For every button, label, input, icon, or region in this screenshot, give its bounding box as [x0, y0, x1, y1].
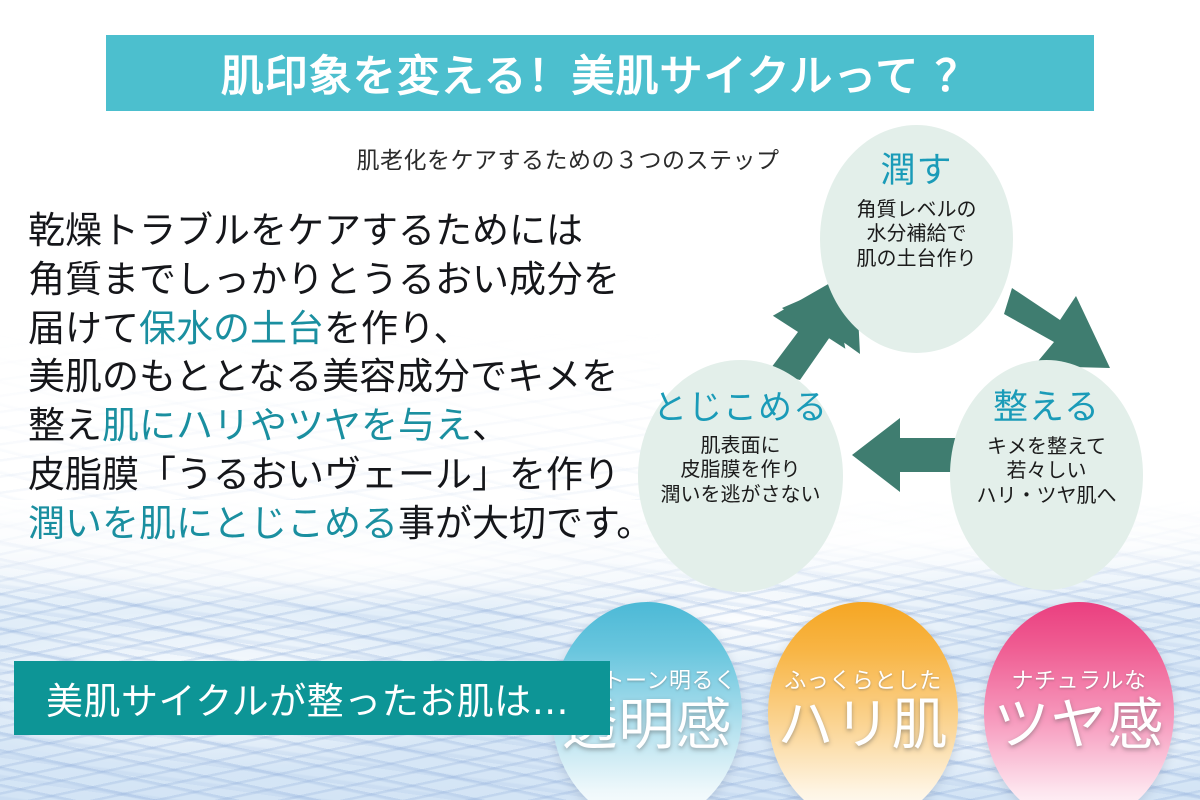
body-text: 、	[472, 406, 509, 447]
body-line: 角質までしっかりとうるおい成分を	[28, 257, 638, 306]
cycle-node-title: 潤す	[880, 153, 952, 188]
body-paragraph: 乾燥トラブルをケアするためには角質までしっかりとうるおい成分を届けて保水の土台を…	[28, 208, 638, 550]
badge-caption: ナチュラルな	[1011, 671, 1146, 693]
badge-caption: ふっくらとした	[784, 671, 942, 693]
infographic-canvas: 肌印象を変える！美肌サイクルって ？ 肌老化をケアするための３つのステップ 乾燥…	[0, 0, 1200, 800]
body-text: 美肌のもととなる美容成分でキメを	[28, 357, 618, 398]
cycle-node-description: キメを整えて 若々しい ハリ・ツヤ肌へ	[977, 435, 1117, 508]
body-text: 事が大切です。	[398, 504, 653, 545]
cycle-node-title: 整える	[993, 390, 1100, 425]
badge-title: ツヤ感	[994, 697, 1165, 756]
cycle-node-description: 角質レベルの 水分補給で 肌の土台作り	[857, 198, 977, 271]
page-title: 肌印象を変える！美肌サイクルって ？	[221, 42, 979, 104]
body-text: 整え	[28, 406, 102, 447]
body-line: 美肌のもととなる美容成分でキメを	[28, 354, 638, 403]
result-badge-firmness[interactable]: ふっくらとした ハリ肌	[768, 602, 958, 800]
cycle-node-seal-in[interactable]: とじこめる 肌表面に 皮脂膜を作り 潤いを逃がさない	[638, 360, 843, 592]
beauty-cycle-diagram: 潤す 角質レベルの 水分補給で 肌の土台作り 整える キメを整えて 若々しい ハ…	[620, 110, 1200, 590]
cycle-node-condition[interactable]: 整える キメを整えて 若々しい ハリ・ツヤ肌へ	[950, 360, 1143, 590]
body-text: 角質までしっかりとうるおい成分を	[28, 260, 620, 301]
cycle-node-description: 肌表面に 皮脂膜を作り 潤いを逃がさない	[661, 434, 821, 507]
body-text: 皮脂膜「うるおいヴェール」を作り	[28, 455, 620, 496]
badge-title: ハリ肌	[778, 697, 949, 756]
cycle-node-title: とじこめる	[653, 392, 828, 426]
body-line: 届けて保水の土台を作り、	[28, 306, 638, 355]
result-banner: 美肌サイクルが整ったお肌は…	[14, 661, 610, 735]
body-text: 乾燥トラブルをケアするためには	[28, 211, 583, 252]
header-banner: 肌印象を変える！美肌サイクルって ？	[106, 35, 1094, 111]
body-text: を作り、	[324, 309, 471, 350]
body-highlight: 肌にハリやツヤを与え	[102, 406, 472, 447]
result-banner-text: 美肌サイクルが整ったお肌は…	[14, 671, 569, 725]
body-line: 潤いを肌にとじこめる事が大切です。	[28, 501, 638, 550]
body-line: 乾燥トラブルをケアするためには	[28, 208, 638, 257]
body-highlight: 潤いを肌にとじこめる	[28, 504, 398, 545]
body-line: 皮脂膜「うるおいヴェール」を作り	[28, 452, 638, 501]
body-text: 届けて	[28, 309, 139, 350]
cycle-node-moisturize[interactable]: 潤す 角質レベルの 水分補給で 肌の土台作り	[820, 125, 1013, 353]
result-badge-glow[interactable]: ナチュラルな ツヤ感	[984, 602, 1174, 800]
body-highlight: 保水の土台	[139, 309, 324, 350]
body-line: 整え肌にハリやツヤを与え、	[28, 403, 638, 452]
